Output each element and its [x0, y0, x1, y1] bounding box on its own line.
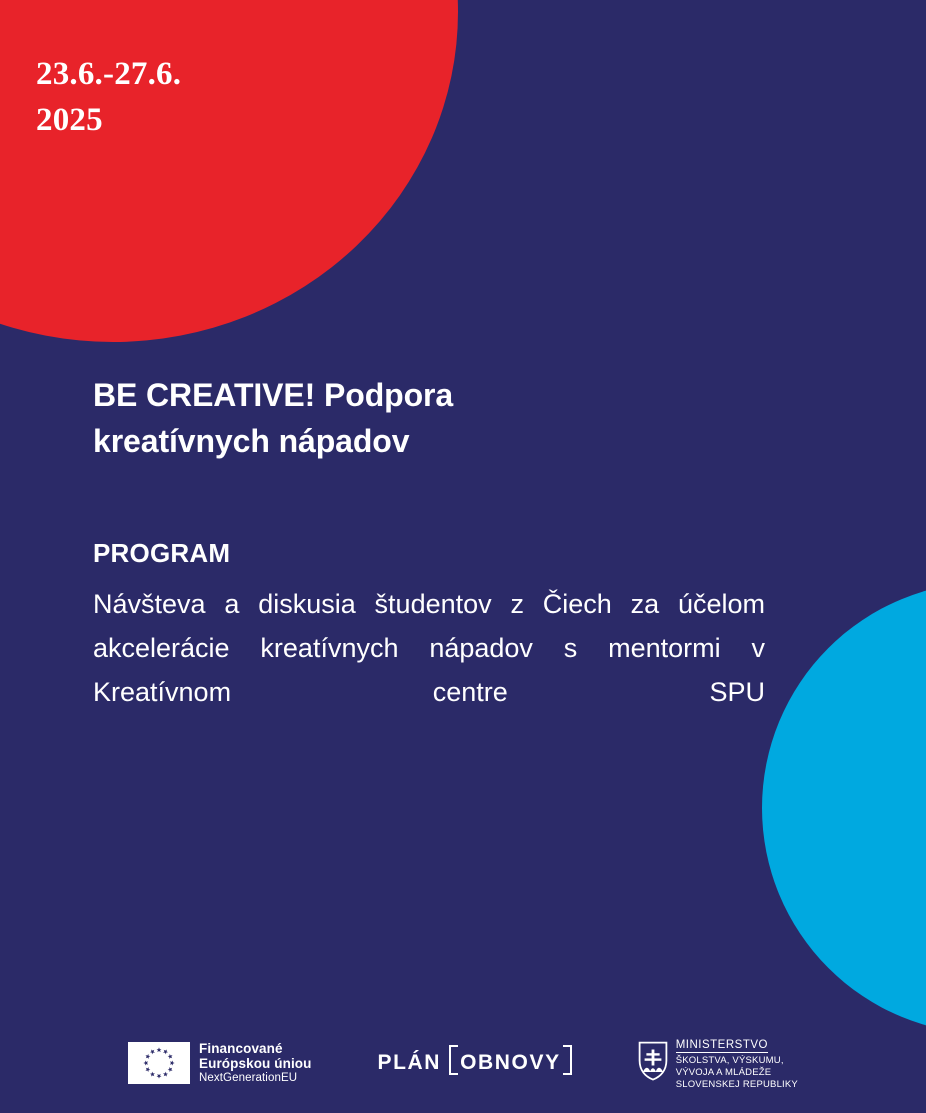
- eu-text-line-3: NextGenerationEU: [199, 1071, 312, 1085]
- eu-flag-icon: [128, 1042, 190, 1084]
- eu-text-line-1: Financované: [199, 1041, 312, 1056]
- ministry-text-block: MINISTERSTVO ŠKOLSTVA, VÝSKUMU, VÝVOJA A…: [676, 1035, 798, 1091]
- program-description: Návšteva a diskusia študentov z Čiech za…: [93, 569, 765, 758]
- program-heading: PROGRAM: [93, 464, 765, 569]
- plan-obnovy-logo: PLÁN OBNOVY: [378, 1051, 572, 1075]
- ministry-logo: MINISTERSTVO ŠKOLSTVA, VÝSKUMU, VÝVOJA A…: [638, 1035, 798, 1091]
- content-block: BE CREATIVE! Podpora kreatívnych nápadov…: [93, 372, 765, 758]
- eu-funding-logo: Financované Európskou úniou NextGenerati…: [128, 1041, 312, 1085]
- cyan-circle-decoration: [762, 582, 926, 1034]
- funding-logo-bar: Financované Európskou úniou NextGenerati…: [0, 1021, 926, 1113]
- ministry-title: MINISTERSTVO: [676, 1039, 768, 1053]
- plan-word: PLÁN: [378, 1051, 442, 1075]
- event-date: 23.6.-27.6. 2025: [36, 52, 181, 143]
- eu-text-line-2: Európskou úniou: [199, 1056, 312, 1071]
- ministry-subtitle: ŠKOLSTVA, VÝSKUMU, VÝVOJA A MLÁDEŽE SLOV…: [676, 1055, 798, 1091]
- obnovy-word: OBNOVY: [449, 1051, 572, 1075]
- poster-title: BE CREATIVE! Podpora kreatívnych nápadov: [93, 372, 765, 464]
- poster-canvas: 23.6.-27.6. 2025 BE CREATIVE! Podpora kr…: [0, 0, 926, 1113]
- eu-funding-text: Financované Európskou úniou NextGenerati…: [199, 1041, 312, 1085]
- slovak-coat-of-arms-icon: [638, 1041, 668, 1086]
